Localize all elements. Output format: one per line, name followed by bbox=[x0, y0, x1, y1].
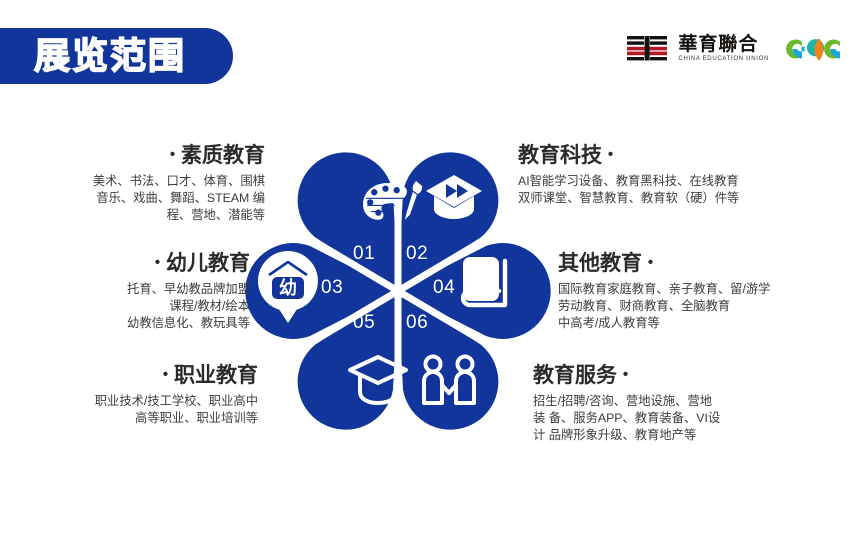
bullet-dot: • bbox=[155, 254, 160, 271]
category-quality-title: 素质教育 bbox=[181, 144, 265, 167]
page-header: 展览范围 華育聯合 CHINA EDUCATION UNION bbox=[0, 0, 867, 100]
category-vocational-heading: • 职业教育 bbox=[0, 362, 258, 389]
category-early-line-3: 幼教信息化、教玩具等 bbox=[0, 315, 250, 332]
category-other-title: 其他教育 bbox=[558, 252, 642, 275]
category-early-line-1: 托育、早幼教品牌加盟 bbox=[0, 281, 250, 298]
bullet-dot: • bbox=[623, 366, 628, 383]
petals-svg: 幼 bbox=[243, 143, 553, 448]
category-service-line-1: 招生/招聘/咨询、营地设施、营地 bbox=[533, 393, 720, 410]
category-early-education: • 幼儿教育 托育、早幼教品牌加盟 课程/教材/绘本 幼教信息化、教玩具等 bbox=[0, 250, 250, 332]
category-vocational-line-2: 高等职业、职业培训等 bbox=[0, 410, 258, 427]
category-service-line-2: 装 备、服务APP、教育装备、VI设 bbox=[533, 410, 720, 427]
category-vocational-education: • 职业教育 职业技术/技工学校、职业高中 高等职业、职业培训等 bbox=[0, 362, 258, 427]
category-other-heading: 其他教育 • bbox=[558, 250, 770, 277]
category-technology-heading: 教育科技 • bbox=[518, 142, 739, 169]
svg-text:幼: 幼 bbox=[279, 277, 297, 299]
bullet-dot: • bbox=[170, 146, 175, 163]
bullet-dot: • bbox=[163, 366, 168, 383]
category-early-line-2: 课程/教材/绘本 bbox=[0, 298, 250, 315]
china-education-union-logo: 華育聯合 CHINA EDUCATION UNION bbox=[627, 34, 769, 64]
bullet-dot: • bbox=[608, 146, 613, 163]
category-other-line-1: 国际教育家庭教育、亲子教育、留/游学 bbox=[558, 281, 770, 298]
petal-number-02: 02 bbox=[406, 244, 428, 263]
cec-logo-icon bbox=[783, 34, 855, 64]
page-title: 展览范围 bbox=[34, 29, 186, 83]
petal-number-01: 01 bbox=[353, 244, 375, 263]
category-technology-title: 教育科技 bbox=[518, 144, 602, 167]
category-vocational-line-1: 职业技术/技工学校、职业高中 bbox=[0, 393, 258, 410]
category-early-heading: • 幼儿教育 bbox=[0, 250, 250, 277]
category-quality-line-1: 美术、书法、口才、体育、围棋 bbox=[0, 173, 265, 190]
category-quality-line-3: 程、营地、潜能等 bbox=[0, 207, 265, 224]
category-vocational-title: 职业教育 bbox=[174, 364, 258, 387]
category-technology-line-2: 双师课堂、智慧教育、教育软（硬）件等 bbox=[518, 190, 739, 207]
union-name-cn: 華育聯合 bbox=[678, 34, 769, 55]
category-education-service: 教育服务 • 招生/招聘/咨询、营地设施、营地 装 备、服务APP、教育装备、V… bbox=[533, 362, 720, 444]
petal-number-06: 06 bbox=[406, 313, 428, 332]
six-petal-diagram: 幼 01 02 03 04 05 06 bbox=[243, 143, 553, 448]
category-quality-education: • 素质教育 美术、书法、口才、体育、围棋 音乐、戏曲、舞蹈、STEAM 编 程… bbox=[0, 142, 265, 224]
category-service-heading: 教育服务 • bbox=[533, 362, 720, 389]
union-wordmark: 華育聯合 CHINA EDUCATION UNION bbox=[678, 34, 769, 64]
petal-number-03: 03 bbox=[321, 278, 343, 297]
petal-number-04: 04 bbox=[433, 278, 455, 297]
logo-group: 華育聯合 CHINA EDUCATION UNION bbox=[627, 34, 855, 64]
union-name-en: CHINA EDUCATION UNION bbox=[678, 55, 769, 64]
category-quality-line-2: 音乐、戏曲、舞蹈、STEAM 编 bbox=[0, 190, 265, 207]
category-education-technology: 教育科技 • AI智能学习设备、教育黑科技、在线教育 双师课堂、智慧教育、教育软… bbox=[518, 142, 739, 207]
category-other-line-3: 中高考/成人教育等 bbox=[558, 315, 770, 332]
union-mark-icon bbox=[627, 34, 671, 64]
category-other-line-2: 劳动教育、财商教育、全脑教育 bbox=[558, 298, 770, 315]
category-service-line-3: 计 品牌形象升级、教育地产等 bbox=[533, 427, 720, 444]
bullet-dot: • bbox=[648, 254, 653, 271]
category-other-education: 其他教育 • 国际教育家庭教育、亲子教育、留/游学 劳动教育、财商教育、全脑教育… bbox=[558, 250, 770, 332]
category-early-title: 幼儿教育 bbox=[166, 252, 250, 275]
category-service-title: 教育服务 bbox=[533, 364, 617, 387]
petal-number-05: 05 bbox=[353, 313, 375, 332]
category-technology-line-1: AI智能学习设备、教育黑科技、在线教育 bbox=[518, 173, 739, 190]
category-quality-heading: • 素质教育 bbox=[0, 142, 265, 169]
